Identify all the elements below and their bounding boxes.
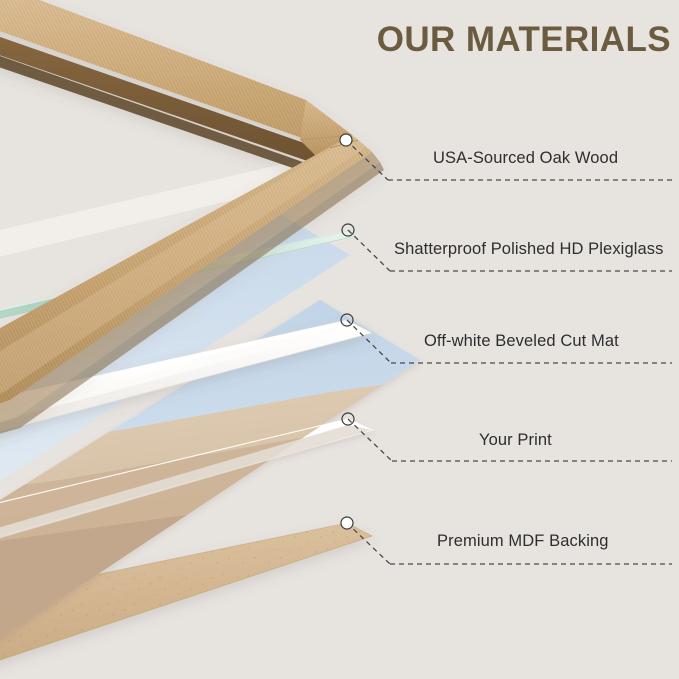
leader-diagonal <box>348 419 392 461</box>
leader-diagonal <box>347 523 390 564</box>
leader-diagonal <box>347 320 391 363</box>
leader-diagonal <box>346 140 388 180</box>
callout-marker-mdf-backing <box>341 517 353 529</box>
materials-infographic: OUR MATERIALS USA-Sourced Oak Wood Shatt… <box>0 0 679 679</box>
callout-leader-lines <box>0 0 679 679</box>
callout-marker-oak-wood <box>340 134 352 146</box>
leader-diagonal <box>348 230 390 271</box>
